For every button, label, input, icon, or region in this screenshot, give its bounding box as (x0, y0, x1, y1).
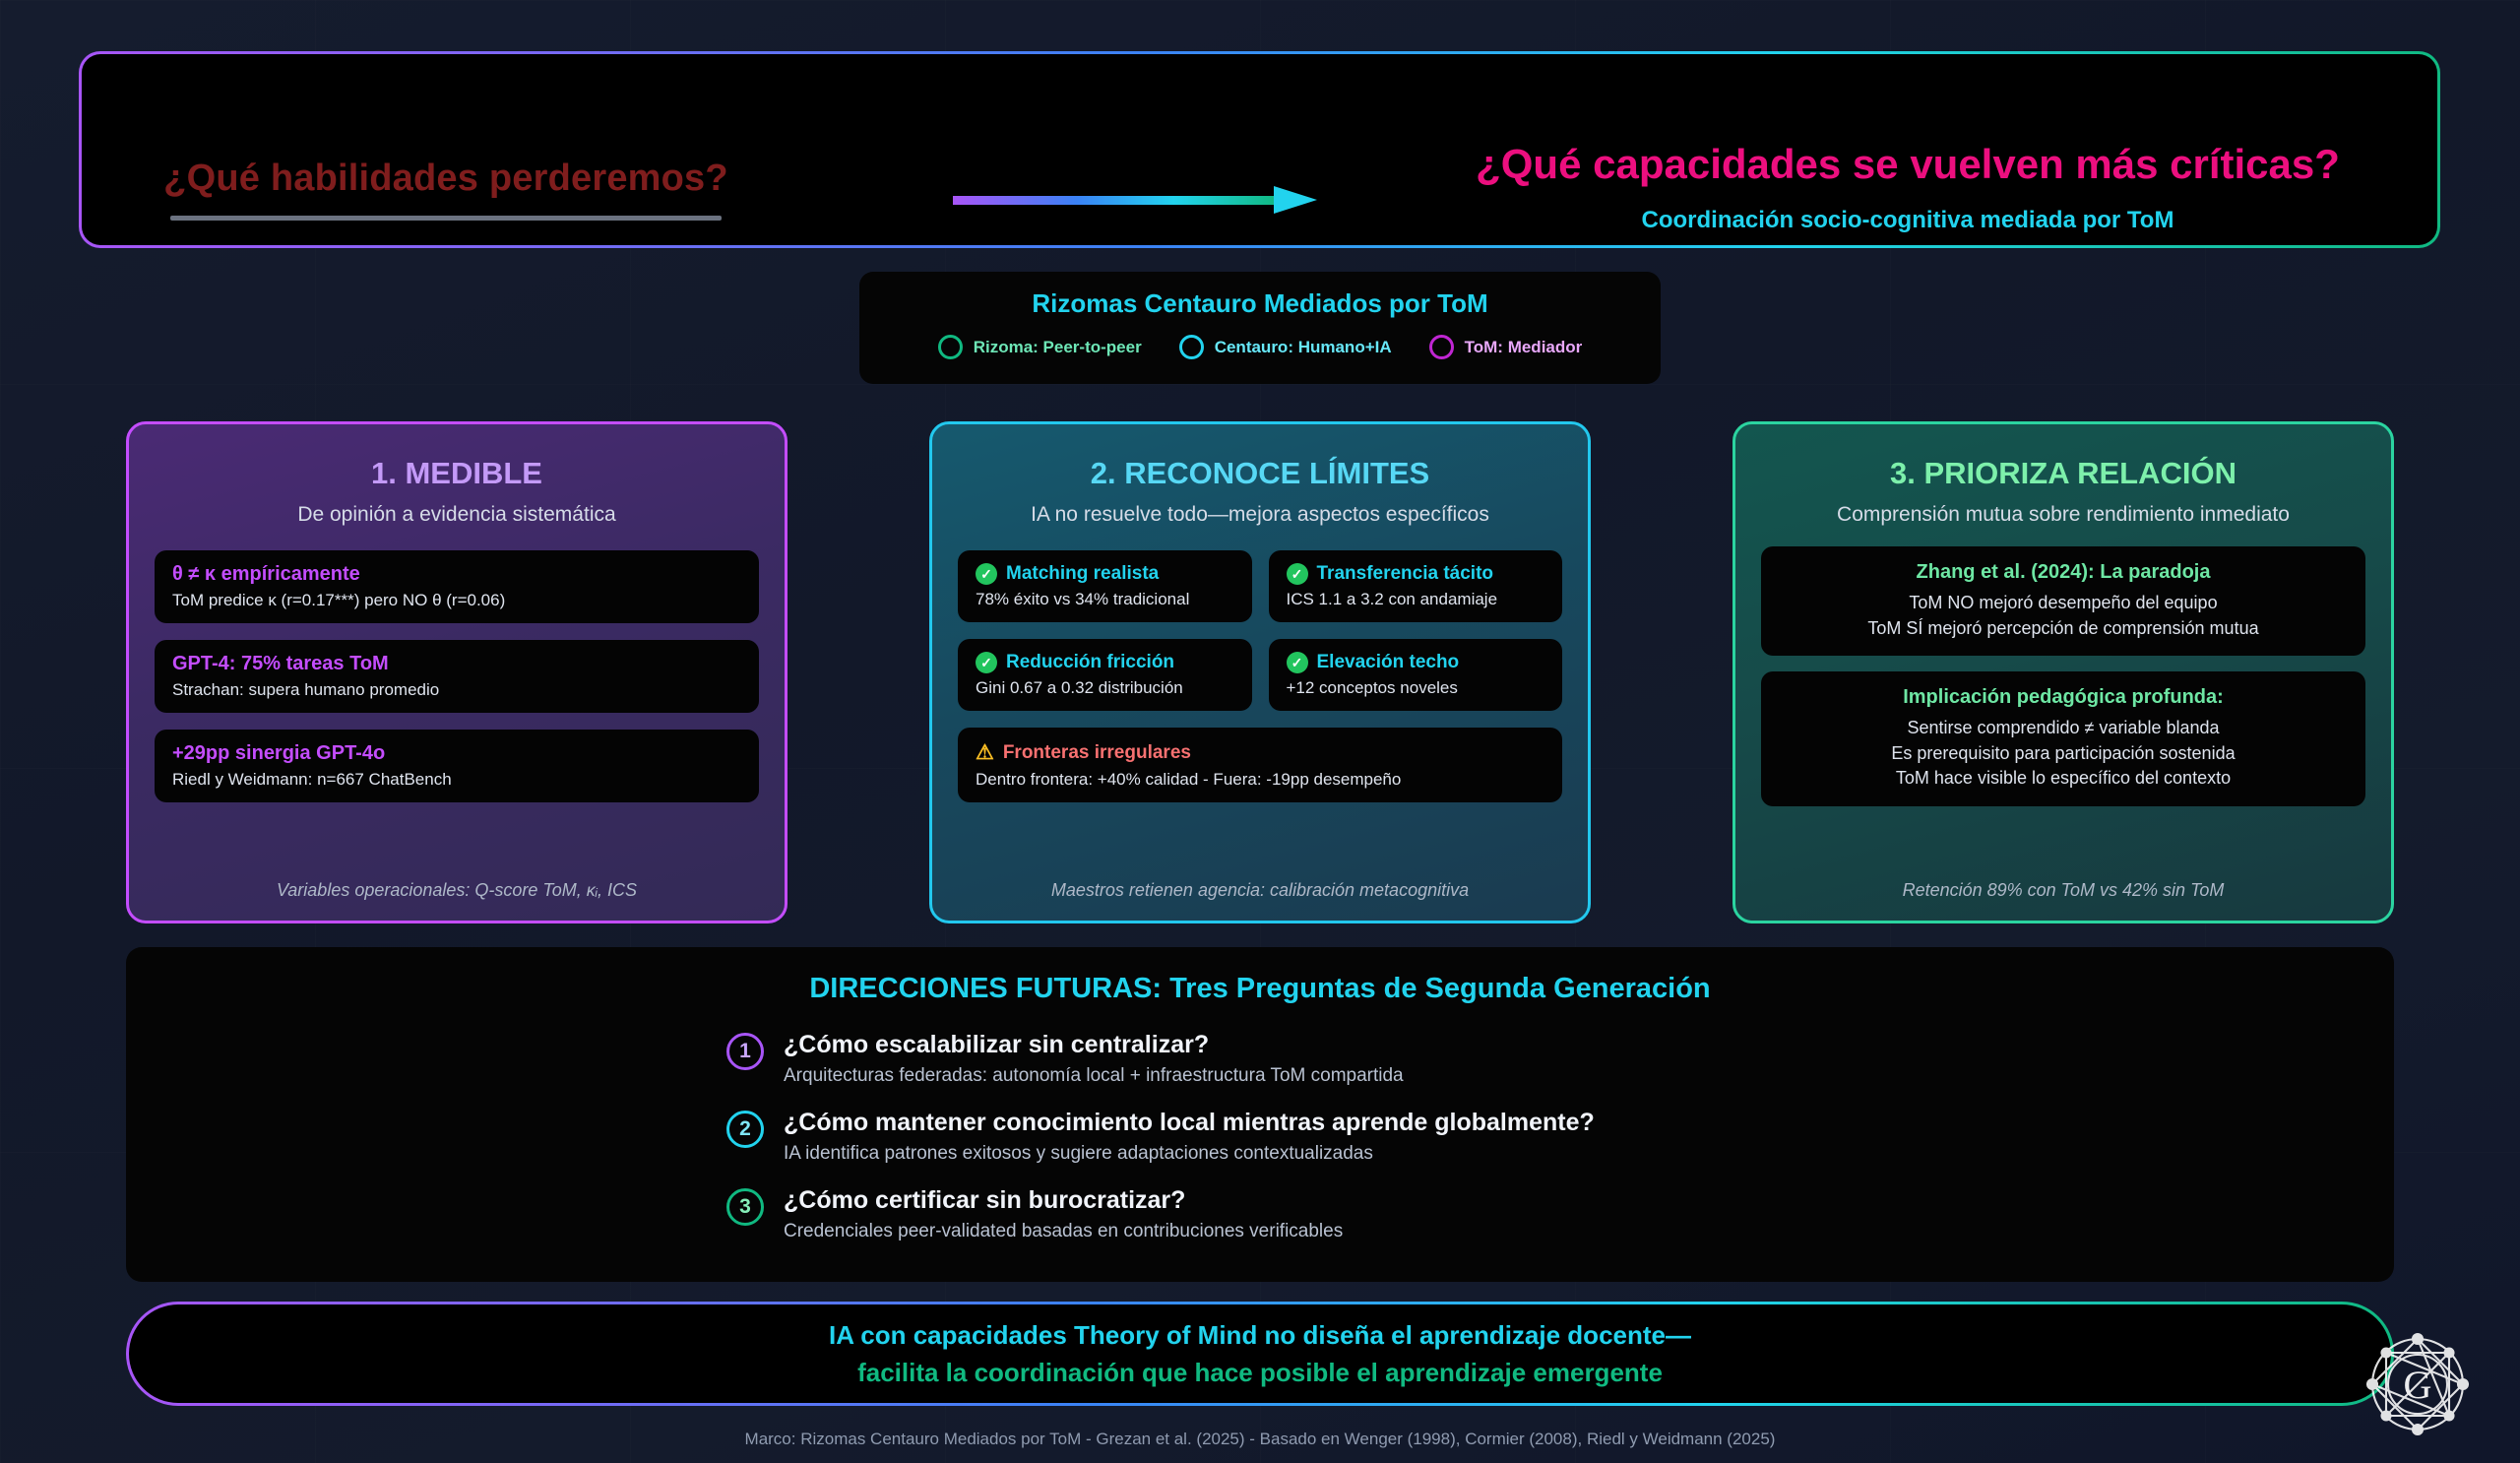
pillar-item-heading: Zhang et al. (2024): La paradoja (1779, 561, 2348, 584)
pillar-footnote: Maestros retienen agencia: calibración m… (958, 880, 1562, 901)
pillar-item-body: 78% éxito vs 34% tradicional (976, 590, 1234, 609)
pillar-item-body: Riedl y Weidmann: n=667 ChatBench (172, 770, 741, 790)
pillar-item-heading: Elevación techo (1317, 652, 1460, 673)
pillar-footnote: Variables operacionales: Q-score ToM, κᵢ… (155, 880, 759, 901)
circle-outline-icon (938, 335, 963, 359)
pillar-item-line: Sentirse comprendido ≠ variable blanda (1779, 716, 2348, 741)
future-question-detail: Credenciales peer-validated basadas en c… (784, 1221, 1343, 1242)
pillar-title: 2. RECONOCE LÍMITES (958, 456, 1562, 491)
pillar-item-heading: Matching realista (1006, 563, 1159, 585)
pillar-item-body: ToM predice κ (r=0.17***) pero NO θ (r=0… (172, 591, 741, 610)
pillar-item: ✓ Matching realista 78% éxito vs 34% tra… (958, 550, 1252, 622)
future-question-detail: IA identifica patrones exitosos y sugier… (784, 1143, 1595, 1165)
pillar-title: 3. PRIORIZA RELACIÓN (1761, 456, 2365, 491)
pillar-warning-heading: Fronteras irregulares (1003, 742, 1191, 764)
header-right-subtitle: Coordinación socio-cognitiva mediada por… (1371, 207, 2444, 234)
pillar-item-body: Strachan: supera humano promedio (172, 680, 741, 700)
legend-item-label: Rizoma: Peer-to-peer (974, 338, 1142, 357)
strikethrough-rule (170, 216, 722, 221)
legend-panel: Rizomas Centauro Mediados por ToM Rizoma… (859, 272, 1661, 384)
pillar-item-heading: +29pp sinergia GPT-4o (172, 742, 741, 765)
pillar-footnote: Retención 89% con ToM vs 42% sin ToM (1761, 880, 2365, 901)
pillar-item-list: Zhang et al. (2024): La paradoja ToM NO … (1761, 546, 2365, 806)
legend-item-label: Centauro: Humano+IA (1215, 338, 1392, 357)
pillar-item-heading: Transferencia tácito (1317, 563, 1494, 585)
number-badge-2: 2 (726, 1111, 764, 1148)
pillar-item-line: ToM NO mejoró desempeño del equipo (1779, 591, 2348, 616)
future-question-item: 1 ¿Cómo escalabilizar sin centralizar? A… (726, 1031, 2394, 1087)
pillar-columns: 1. MEDIBLE De opinión a evidencia sistem… (0, 421, 2520, 923)
pillar-subtitle: De opinión a evidencia sistemática (155, 503, 759, 527)
pillar-item: GPT-4: 75% tareas ToM Strachan: supera h… (155, 640, 759, 713)
pillar-item-body: ICS 1.1 a 3.2 con andamiaje (1287, 590, 1545, 609)
pillar-warning-heading-row: ⚠ Fronteras irregulares (976, 740, 1544, 765)
pillar-item: Implicación pedagógica profunda: Sentirs… (1761, 671, 2365, 806)
check-circle-icon: ✓ (1287, 563, 1308, 585)
pillar-item: ✓ Transferencia tácito ICS 1.1 a 3.2 con… (1269, 550, 1563, 622)
pillar-item-heading: Implicación pedagógica profunda: (1779, 686, 2348, 709)
future-question-item: 2 ¿Cómo mantener conocimiento local mien… (726, 1109, 2394, 1165)
pillar-item-heading-row: ✓ Matching realista (976, 563, 1234, 585)
infographic-canvas: ¿Qué habilidades perderemos? ¿Qué capaci… (0, 0, 2520, 1463)
warning-triangle-icon: ⚠ (976, 740, 994, 765)
pillar-item-line: ToM hace visible lo específico del conte… (1779, 766, 2348, 792)
pillar-item-grid: ✓ Matching realista 78% éxito vs 34% tra… (958, 550, 1562, 711)
header-banner: ¿Qué habilidades perderemos? ¿Qué capaci… (79, 51, 2440, 248)
pillar-subtitle: Comprensión mutua sobre rendimiento inme… (1761, 503, 2365, 527)
check-circle-icon: ✓ (976, 652, 997, 673)
pillar-item-line: ToM SÍ mejoró percepción de comprensión … (1779, 616, 2348, 642)
conclusion-banner: IA con capacidades Theory of Mind no dis… (126, 1302, 2394, 1406)
future-question-text-group: ¿Cómo mantener conocimiento local mientr… (784, 1109, 1595, 1165)
conclusion-line-1: IA con capacidades Theory of Mind no dis… (829, 1320, 1691, 1351)
number-badge-1: 1 (726, 1033, 764, 1070)
future-question-detail: Arquitecturas federadas: autonomía local… (784, 1065, 1404, 1087)
legend-item-centauro: Centauro: Humano+IA (1179, 335, 1392, 359)
header-right-title: ¿Qué capacidades se vuelven más críticas… (1371, 141, 2444, 188)
pillar-item-list: θ ≠ κ empíricamente ToM predice κ (r=0.1… (155, 550, 759, 802)
pillar-warning-body: Dentro frontera: +40% calidad - Fuera: -… (976, 770, 1544, 790)
legend-item-rizoma: Rizoma: Peer-to-peer (938, 335, 1142, 359)
pillar-item: θ ≠ κ empíricamente ToM predice κ (r=0.1… (155, 550, 759, 623)
circle-outline-icon (1429, 335, 1454, 359)
pillar-item-heading-row: ✓ Transferencia tácito (1287, 563, 1545, 585)
check-circle-icon: ✓ (976, 563, 997, 585)
pillar-item: ✓ Elevación techo +12 conceptos noveles (1269, 639, 1563, 711)
pillar-item-body: Gini 0.67 a 0.32 distribución (976, 678, 1234, 698)
future-directions-title: DIRECCIONES FUTURAS: Tres Preguntas de S… (126, 973, 2394, 1005)
check-circle-icon: ✓ (1287, 652, 1308, 673)
pillar-item-body: +12 conceptos noveles (1287, 678, 1545, 698)
pillar-card-medible: 1. MEDIBLE De opinión a evidencia sistem… (126, 421, 787, 923)
future-question-text-group: ¿Cómo escalabilizar sin centralizar? Arq… (784, 1031, 1404, 1087)
pillar-card-limites: 2. RECONOCE LÍMITES IA no resuelve todo—… (929, 421, 1591, 923)
legend-title: Rizomas Centauro Mediados por ToM (859, 288, 1661, 319)
future-question-text-group: ¿Cómo certificar sin burocratizar? Crede… (784, 1186, 1343, 1242)
conclusion-line-2: facilita la coordinación que hace posibl… (857, 1358, 1663, 1388)
arrow-head (1274, 186, 1317, 214)
pillar-item-heading-row: ✓ Elevación techo (1287, 652, 1545, 673)
pillar-card-relacion: 3. PRIORIZA RELACIÓN Comprensión mutua s… (1732, 421, 2394, 923)
pillar-item-heading-row: ✓ Reducción fricción (976, 652, 1234, 673)
future-question-heading: ¿Cómo certificar sin burocratizar? (784, 1186, 1343, 1215)
pillar-item: Zhang et al. (2024): La paradoja ToM NO … (1761, 546, 2365, 656)
pillar-warning-item: ⚠ Fronteras irregulares Dentro frontera:… (958, 728, 1562, 802)
pillar-item: +29pp sinergia GPT-4o Riedl y Weidmann: … (155, 730, 759, 802)
header-right-group: ¿Qué capacidades se vuelven más críticas… (1371, 141, 2444, 234)
pillar-subtitle: IA no resuelve todo—mejora aspectos espe… (958, 503, 1562, 527)
future-question-heading: ¿Cómo mantener conocimiento local mientr… (784, 1109, 1595, 1137)
header-left-title: ¿Qué habilidades perderemos? (151, 158, 741, 200)
pillar-item-heading: θ ≠ κ empíricamente (172, 563, 741, 586)
future-question-list: 1 ¿Cómo escalabilizar sin centralizar? A… (726, 1031, 2394, 1242)
svg-text:G: G (2404, 1363, 2432, 1407)
arrow-right-gradient-icon (953, 186, 1317, 214)
legend-item-label: ToM: Mediador (1465, 338, 1583, 357)
arrow-shaft (953, 196, 1278, 205)
pillar-item-heading: Reducción fricción (1006, 652, 1174, 673)
future-directions-panel: DIRECCIONES FUTURAS: Tres Preguntas de S… (126, 947, 2394, 1282)
pillar-item-line: Es prerequisito para participación soste… (1779, 741, 2348, 767)
legend-items: Rizoma: Peer-to-peer Centauro: Humano+IA… (859, 335, 1661, 359)
pillar-item: ✓ Reducción fricción Gini 0.67 a 0.32 di… (958, 639, 1252, 711)
number-badge-3: 3 (726, 1188, 764, 1226)
credit-line: Marco: Rizomas Centauro Mediados por ToM… (0, 1430, 2520, 1449)
legend-item-tom: ToM: Mediador (1429, 335, 1583, 359)
header-left-group: ¿Qué habilidades perderemos? (151, 158, 741, 221)
future-question-item: 3 ¿Cómo certificar sin burocratizar? Cre… (726, 1186, 2394, 1242)
future-question-heading: ¿Cómo escalabilizar sin centralizar? (784, 1031, 1404, 1059)
network-globe-logo-icon: G (2359, 1325, 2477, 1443)
pillar-title: 1. MEDIBLE (155, 456, 759, 491)
pillar-item-heading: GPT-4: 75% tareas ToM (172, 653, 741, 675)
circle-outline-icon (1179, 335, 1204, 359)
